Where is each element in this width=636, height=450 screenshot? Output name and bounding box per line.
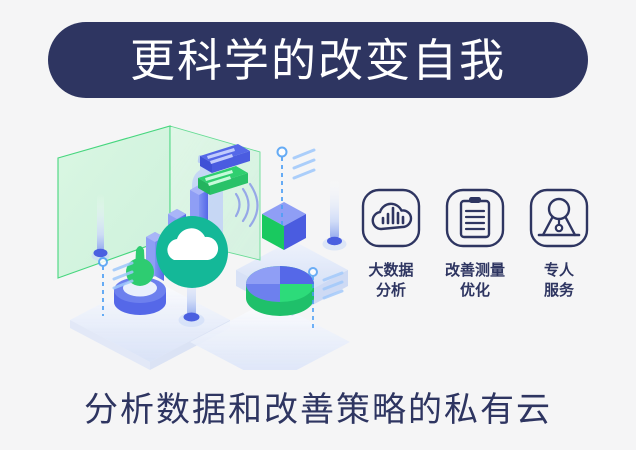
feature-label-big-data: 大数据 分析: [368, 261, 413, 302]
indicator-post-right: [323, 178, 347, 251]
feature-label-measurement: 改善测量 优化: [445, 261, 505, 302]
feature-label-line1: 改善测量: [445, 261, 505, 281]
isometric-illustration: [40, 120, 360, 370]
pie-chart-3d: [246, 266, 314, 316]
feature-label-line2: 服务: [544, 281, 574, 301]
feature-label-line2: 优化: [445, 281, 505, 301]
cube-3d: [262, 202, 306, 250]
banner-stage: 更科学的改变自我: [0, 0, 636, 450]
title-banner-pill: 更科学的改变自我: [48, 22, 588, 98]
cloud-chart-icon: [361, 188, 421, 248]
feature-label-line1: 大数据: [368, 261, 413, 281]
feature-item-measurement: 改善测量 优化: [439, 188, 511, 328]
feature-item-big-data: 大数据 分析: [355, 188, 427, 328]
page-title: 更科学的改变自我: [130, 38, 506, 83]
feature-label-line1: 专人: [544, 261, 574, 281]
tagline: 分析数据和改善策略的私有云: [0, 382, 636, 431]
feature-list: 大数据 分析 改善测量: [355, 188, 595, 328]
feature-item-support: 专人 服务: [523, 188, 595, 328]
support-agent-icon: [529, 188, 589, 248]
clipboard-icon: [445, 188, 505, 248]
feature-label-support: 专人 服务: [544, 261, 574, 302]
feature-label-line2: 分析: [368, 281, 413, 301]
